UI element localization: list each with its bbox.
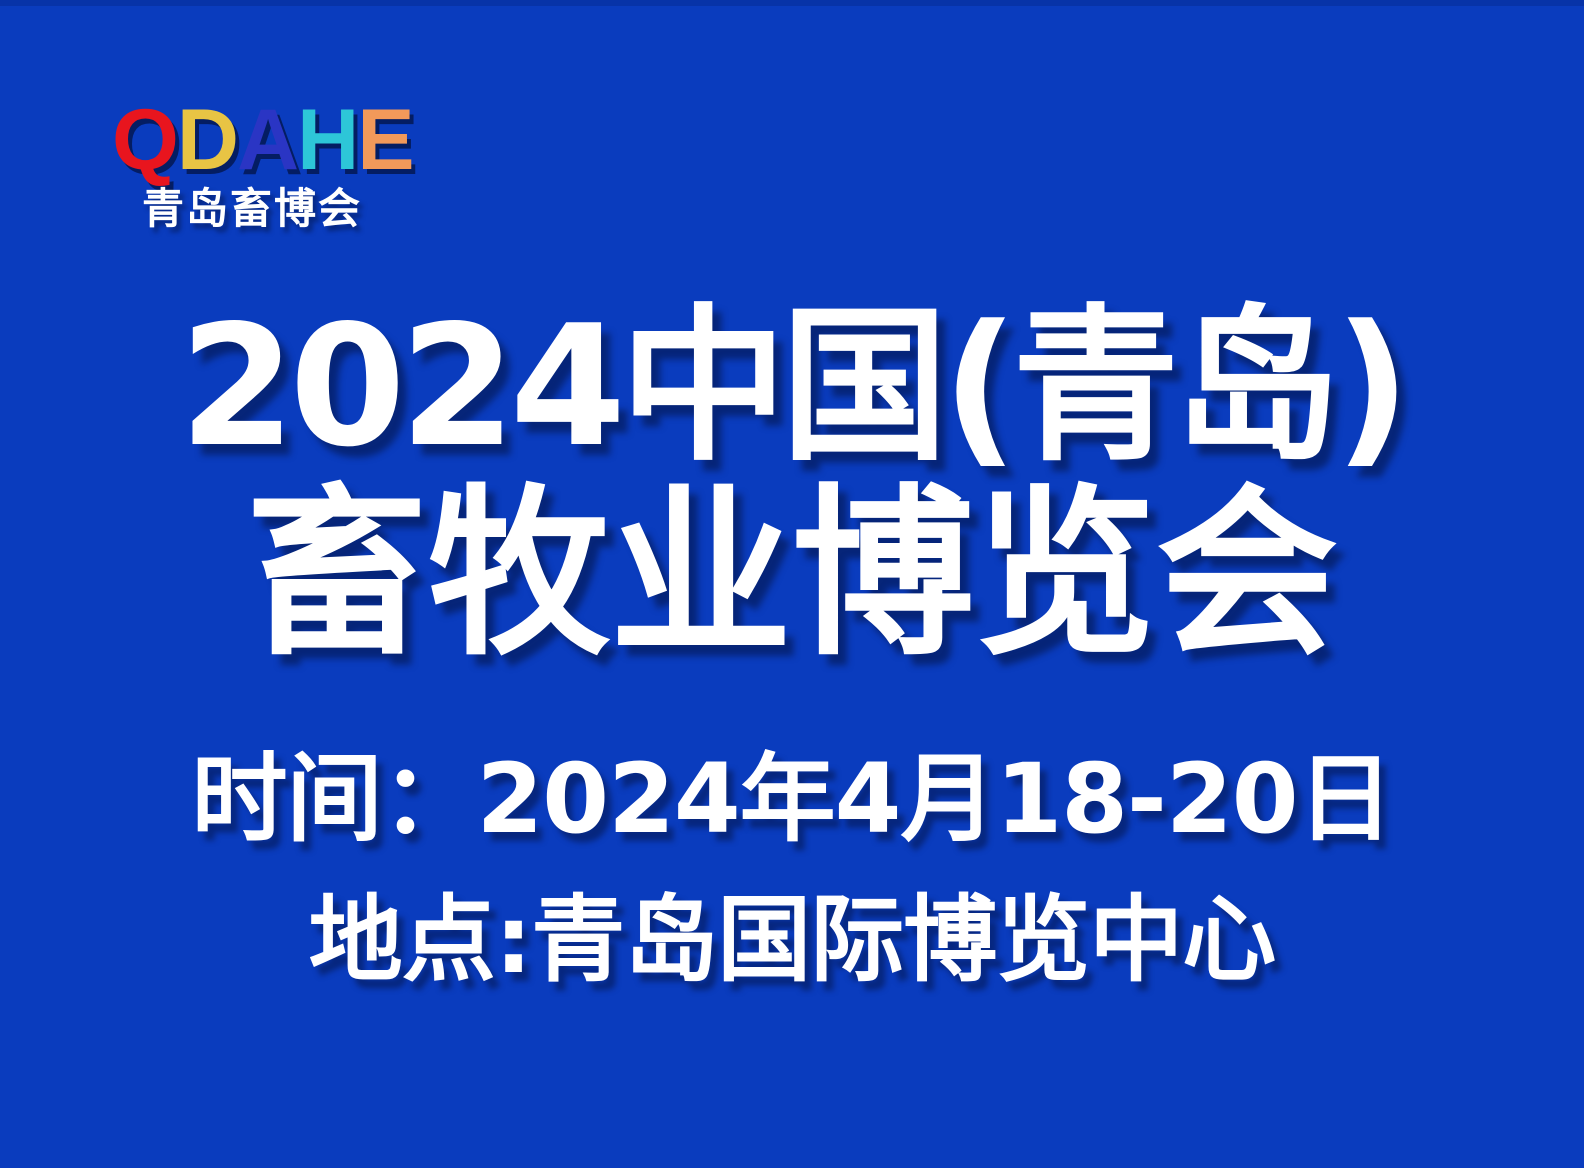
headline-line-2: 畜牧业博览会 <box>0 483 1584 665</box>
event-venue-line: 地点:青岛国际博览中心 <box>0 885 1584 998</box>
logo-letter-e: E <box>357 92 412 188</box>
brand-logo[interactable]: QDAHE 青岛畜博会 <box>112 100 532 230</box>
event-date-line: 时间：2024年4月18-20日 <box>0 742 1584 857</box>
poster-canvas: QDAHE 青岛畜博会 2024中国(青岛) 畜牧业博览会 时间：2024年4月… <box>0 0 1584 1168</box>
logo-subtitle: 青岛畜博会 <box>142 188 532 230</box>
headline-block: 2024中国(青岛) 畜牧业博览会 <box>0 300 1584 665</box>
logo-wordmark: QDAHE <box>112 100 532 182</box>
logo-letter-h: H <box>297 92 357 188</box>
logo-letter-a: A <box>237 92 297 188</box>
logo-letter-d: D <box>177 92 237 188</box>
event-info-block: 时间：2024年4月18-20日 地点:青岛国际博览中心 <box>0 742 1584 998</box>
logo-letter-q: Q <box>112 92 177 188</box>
headline-line-1: 2024中国(青岛) <box>0 300 1584 475</box>
top-accent-band <box>0 0 1584 6</box>
